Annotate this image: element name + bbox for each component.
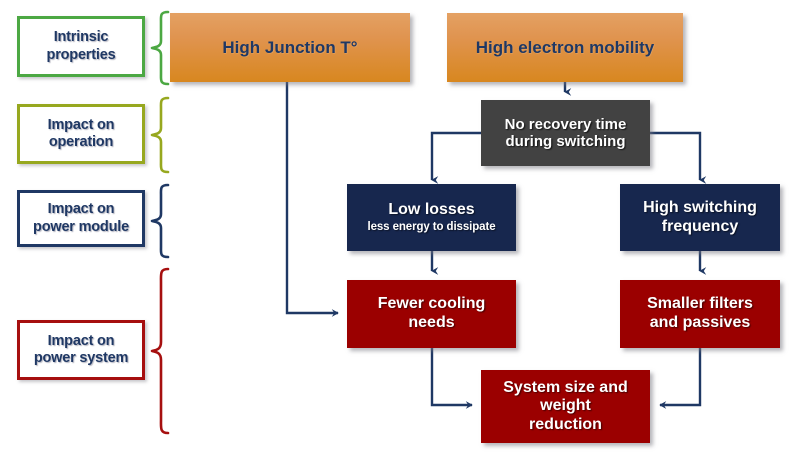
node-high-electron-mobility[interactable]: High electron mobility xyxy=(447,13,683,82)
node-label-line-2: during switching xyxy=(506,133,626,150)
node-label-line-2: needs xyxy=(408,314,454,333)
node-label-line-2: weight xyxy=(540,397,591,416)
node-label-line-1: No recovery time xyxy=(505,116,627,133)
node-label-line-2: frequency xyxy=(662,218,738,237)
node-high-junction-temperature[interactable]: High Junction T° xyxy=(170,13,410,82)
node-high-switching-frequency[interactable]: High switching frequency xyxy=(620,184,780,251)
node-label-line-1: System size and xyxy=(503,379,628,398)
node-label-line-1: Fewer cooling xyxy=(378,295,486,314)
node-label: High electron mobility xyxy=(476,38,655,58)
node-no-recovery-time[interactable]: No recovery time during switching xyxy=(481,100,650,166)
node-label-line-1: Smaller filters xyxy=(647,295,753,314)
node-fewer-cooling-needs[interactable]: Fewer cooling needs xyxy=(347,280,516,348)
node-label-line-2: and passives xyxy=(650,314,751,333)
node-low-losses[interactable]: Low losses less energy to dissipate xyxy=(347,184,516,251)
node-label-line-3: reduction xyxy=(529,416,602,435)
diagram-canvas: Intrinsic properties Impact on operation… xyxy=(0,0,800,461)
node-label: High Junction T° xyxy=(222,38,357,58)
node-smaller-filters-and-passives[interactable]: Smaller filters and passives xyxy=(620,280,780,348)
node-sublabel: less energy to dissipate xyxy=(368,221,496,234)
node-label-line-1: High switching xyxy=(643,199,757,218)
node-label: Low losses xyxy=(388,201,474,220)
node-system-size-and-weight-reduction[interactable]: System size and weight reduction xyxy=(481,370,650,443)
